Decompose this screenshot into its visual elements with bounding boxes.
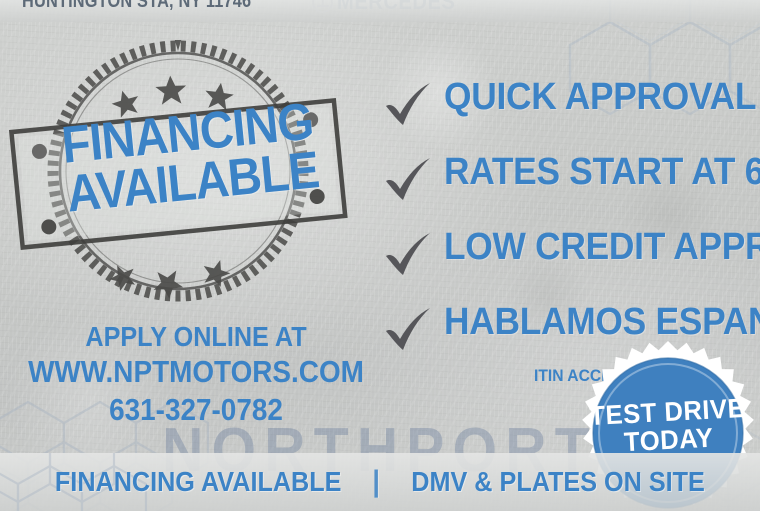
top-bar: HUNTINGTON STA, NY 11746 MERCEDES bbox=[0, 0, 760, 22]
financing-stamp-text: FINANCING AVAILABLE bbox=[60, 99, 321, 217]
mercedes-star-icon bbox=[312, 0, 333, 13]
financing-ad-banner: NORTHPORT HUNTINGTON STA, NY 11746 MERCE… bbox=[0, 0, 760, 511]
website-url[interactable]: WWW.NPTMOTORS.COM bbox=[20, 355, 373, 388]
phone-number[interactable]: 631-327-0782 bbox=[20, 393, 373, 426]
checklist-label: HABLAMOS ESPANOL bbox=[444, 301, 760, 345]
bottom-bar: FINANCING AVAILABLE | DMV & PLATES ON SI… bbox=[0, 453, 760, 511]
test-drive-seal-text: TEST DRIVE TODAY bbox=[575, 394, 760, 458]
checklist-item-rates: RATES START AT 6.2% bbox=[382, 151, 760, 226]
benefits-checklist: QUICK APPROVAL RATES START AT 6.2% LOW C… bbox=[382, 76, 760, 376]
apply-online-label: APPLY ONLINE AT bbox=[20, 322, 373, 352]
checkmark-icon bbox=[382, 82, 434, 128]
checklist-item-quick-approval: QUICK APPROVAL bbox=[382, 76, 760, 151]
brand-wordmark: MERCEDES bbox=[337, 0, 455, 15]
bottom-bar-text: FINANCING AVAILABLE | DMV & PLATES ON SI… bbox=[0, 453, 760, 511]
checklist-label: QUICK APPROVAL bbox=[444, 76, 756, 120]
bottom-bar-separator: | bbox=[372, 465, 380, 499]
apply-online-block: APPLY ONLINE AT WWW.NPTMOTORS.COM 631-32… bbox=[0, 322, 392, 426]
financing-stamp: FINANCING AVAILABLE bbox=[8, 28, 348, 314]
checkmark-icon bbox=[382, 157, 434, 203]
brand-logo: MERCEDES bbox=[312, 0, 466, 15]
checklist-item-low-credit: LOW CREDIT APPROVED bbox=[382, 226, 760, 301]
checkmark-icon bbox=[382, 232, 434, 278]
bottom-bar-dmv-label: DMV & PLATES ON SITE bbox=[412, 466, 706, 498]
dealer-address: HUNTINGTON STA, NY 11746 bbox=[22, 0, 251, 13]
checklist-label: RATES START AT 6.2% bbox=[444, 151, 760, 195]
bottom-bar-financing-label: FINANCING AVAILABLE bbox=[54, 466, 341, 498]
checklist-label: LOW CREDIT APPROVED bbox=[444, 226, 760, 270]
